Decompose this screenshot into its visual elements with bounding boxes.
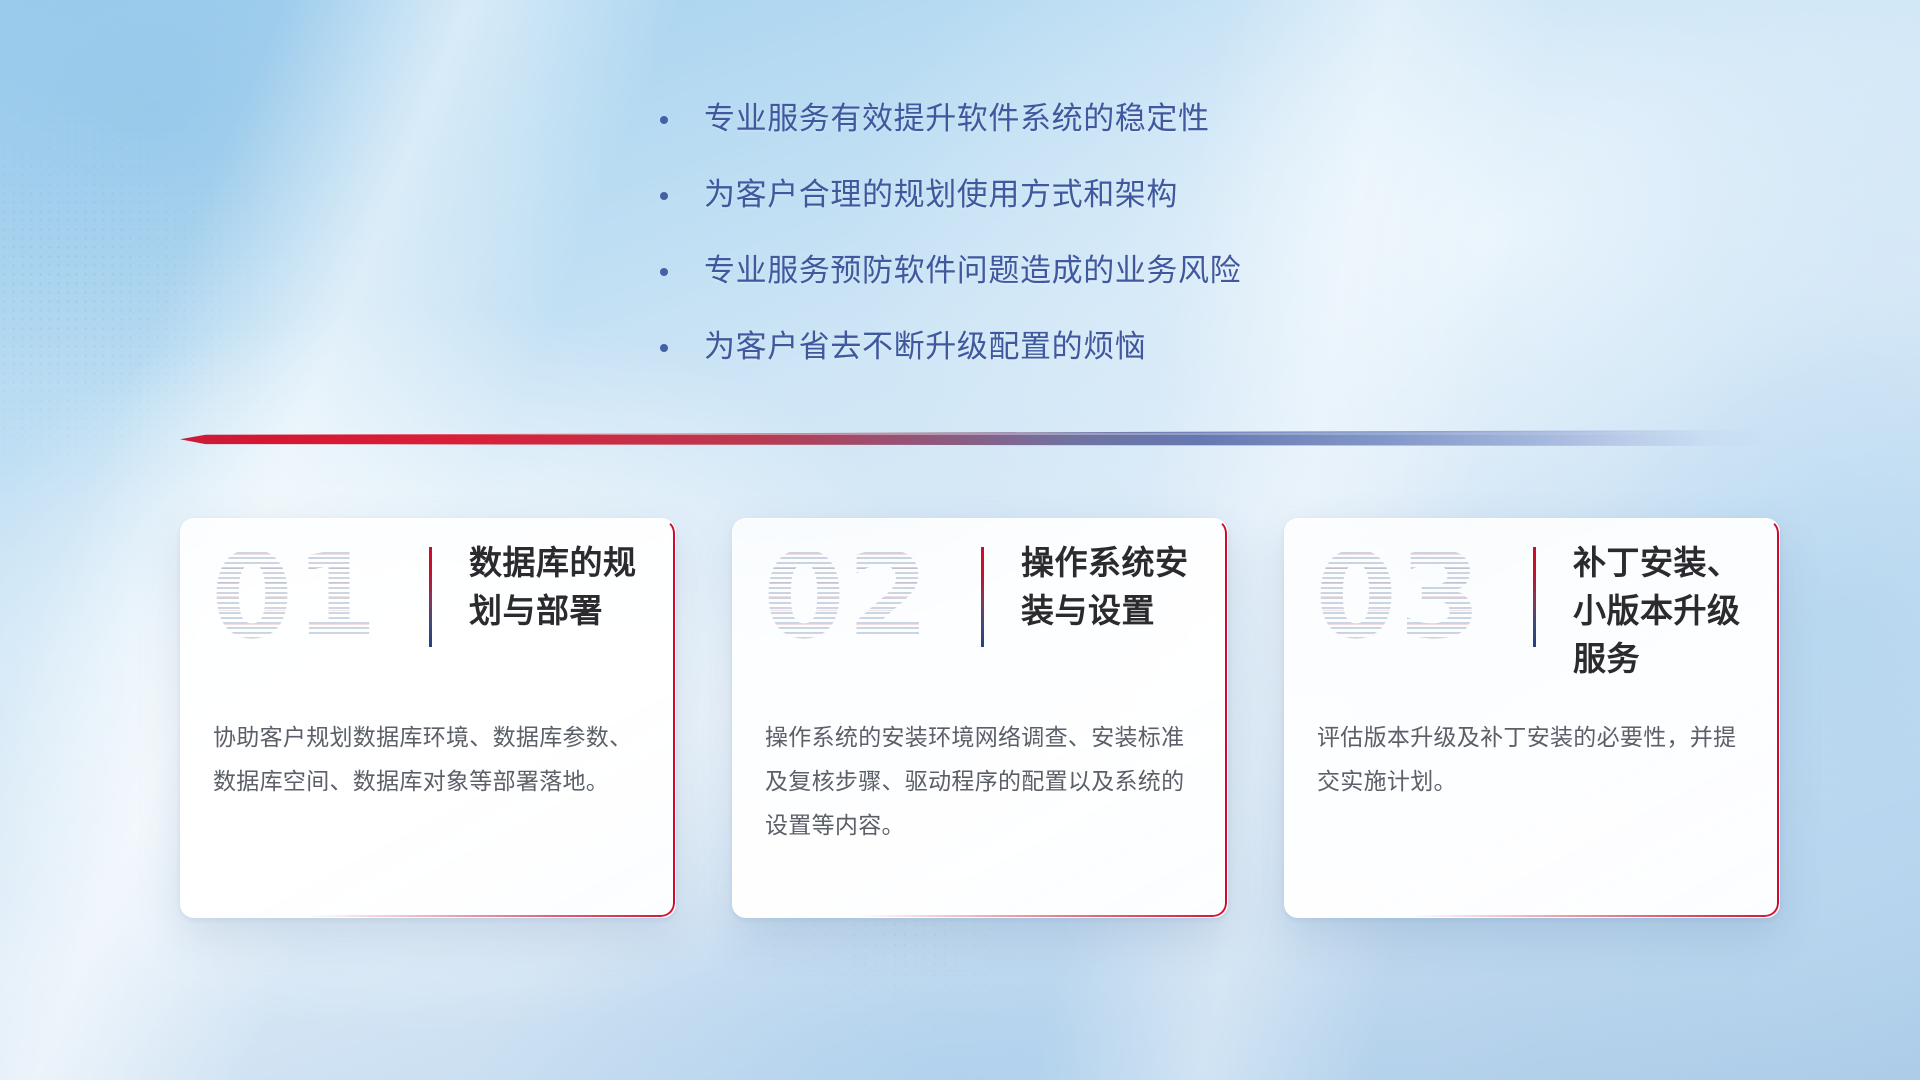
service-card[interactable]: 01 01 数据库的规划与部署 协助客户规划数据库环境、数据库参数、数据库空间、…: [180, 518, 676, 918]
list-item: 专业服务预防软件问题造成的业务风险: [660, 248, 1660, 294]
card-title: 数据库的规划与部署: [469, 539, 653, 635]
card-number-watermark: 01: [211, 537, 379, 655]
bullet-text: 专业服务预防软件问题造成的业务风险: [704, 248, 1241, 294]
service-card[interactable]: 03 03 补丁安装、小版本升级服务 评估版本升级及补丁安装的必要性，并提交实施…: [1284, 518, 1780, 918]
bullet-dot-icon: [660, 192, 668, 200]
card-title: 补丁安装、小版本升级服务: [1573, 539, 1757, 683]
card-body-text: 协助客户规划数据库环境、数据库参数、数据库空间、数据库对象等部署落地。: [213, 715, 641, 803]
card-title-divider: [981, 547, 984, 647]
card-body-text: 操作系统的安装环境网络调查、安装标准及复核步骤、驱动程序的配置以及系统的设置等内…: [765, 715, 1193, 847]
card-number-watermark: 02: [763, 537, 931, 655]
bullet-text: 专业服务有效提升软件系统的稳定性: [704, 96, 1210, 142]
list-item: 专业服务有效提升软件系统的稳定性: [660, 96, 1660, 142]
bullet-text: 为客户省去不断升级配置的烦恼: [704, 324, 1146, 370]
card-number-watermark: 03: [1315, 537, 1483, 655]
list-item: 为客户合理的规划使用方式和架构: [660, 172, 1660, 218]
card-title-divider: [429, 547, 432, 647]
bullet-dot-icon: [660, 344, 668, 352]
card-header: 01 01 数据库的规划与部署: [181, 519, 675, 687]
bullet-text: 为客户合理的规划使用方式和架构: [704, 172, 1178, 218]
card-body-text: 评估版本升级及补丁安装的必要性，并提交实施计划。: [1317, 715, 1745, 803]
card-title-divider: [1533, 547, 1536, 647]
bullet-dot-icon: [660, 268, 668, 276]
card-header: 03 03 补丁安装、小版本升级服务: [1285, 519, 1779, 687]
service-card[interactable]: 02 02 操作系统安装与设置 操作系统的安装环境网络调查、安装标准及复核步骤、…: [732, 518, 1228, 918]
card-title: 操作系统安装与设置: [1021, 539, 1205, 635]
section-divider: [180, 430, 1770, 446]
list-item: 为客户省去不断升级配置的烦恼: [660, 324, 1660, 370]
bullet-dot-icon: [660, 116, 668, 124]
service-card-list: 01 01 数据库的规划与部署 协助客户规划数据库环境、数据库参数、数据库空间、…: [180, 518, 1780, 918]
card-header: 02 02 操作系统安装与设置: [733, 519, 1227, 687]
benefits-bullet-list: 专业服务有效提升软件系统的稳定性 为客户合理的规划使用方式和架构 专业服务预防软…: [660, 96, 1660, 400]
